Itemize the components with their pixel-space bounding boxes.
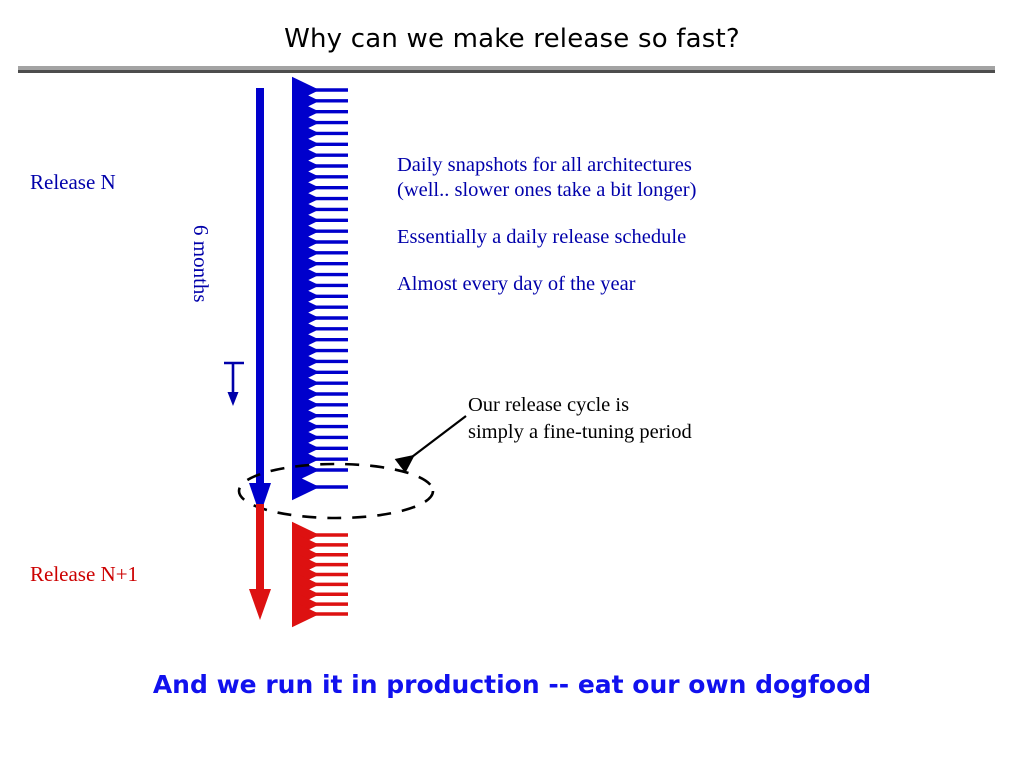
slide-canvas: Why can we make release so fast? xyxy=(0,0,1024,768)
bullet-line: (well.. slower ones take a bit longer) xyxy=(397,178,837,203)
red-snapshot-tick-group xyxy=(292,535,348,614)
bullet-line: Almost every day of the year xyxy=(397,272,837,297)
label-six-months-duration: 6 months xyxy=(188,225,213,303)
blue-timeline-axis xyxy=(249,88,271,515)
bullet-line: Essentially a daily release schedule xyxy=(397,225,837,250)
label-release-n: Release N xyxy=(30,170,116,195)
callout-leader-line xyxy=(400,416,466,466)
bullet-text-block: Daily snapshots for all architectures (w… xyxy=(397,153,837,297)
callout-text: Our release cycle is simply a fine-tunin… xyxy=(468,392,798,446)
bullet-item: Daily snapshots for all architectures (w… xyxy=(397,153,837,203)
slide-tagline: And we run it in production -- eat our o… xyxy=(0,670,1024,699)
label-release-n-plus-1: Release N+1 xyxy=(30,562,138,587)
bullet-item: Almost every day of the year xyxy=(397,272,837,297)
red-timeline-axis xyxy=(249,504,271,620)
release-cycle-diagram xyxy=(0,0,1024,768)
bullet-item: Essentially a daily release schedule xyxy=(397,225,837,250)
red-timeline-arrowhead xyxy=(249,589,271,620)
blue-snapshot-tick-group xyxy=(292,90,348,470)
bullet-line: Daily snapshots for all architectures xyxy=(397,153,837,178)
callout-line: simply a fine-tuning period xyxy=(468,419,798,446)
callout-line: Our release cycle is xyxy=(468,392,798,419)
six-months-direction-arrow xyxy=(224,362,244,406)
